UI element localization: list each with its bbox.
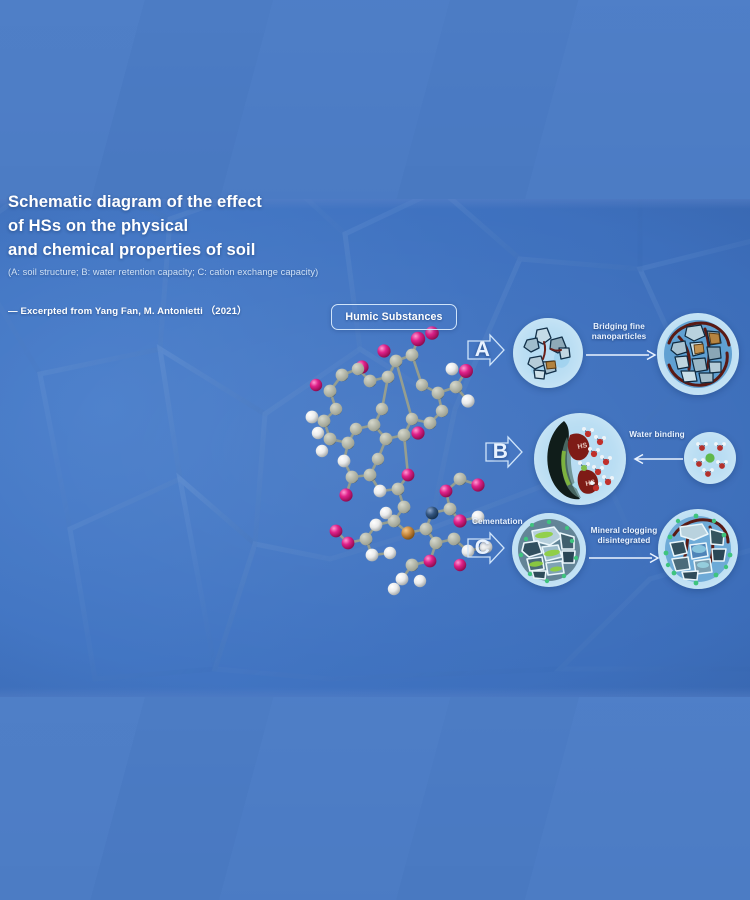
loose-soil-aggregate-icon	[513, 318, 583, 388]
panel-a-start-circle	[513, 318, 583, 388]
cemented-mineral-aggregate-icon	[512, 513, 586, 587]
bottom-letterbox	[0, 697, 750, 900]
panel-b-start-circle: HS HS	[534, 413, 626, 505]
hydrated-ion-cluster-icon	[684, 432, 736, 484]
panel-b-caption-line1: Water binding	[626, 430, 688, 440]
humic-substances-label: Humic Substances	[331, 304, 457, 330]
poster-canvas: Schematic diagram of the effect of HSs o…	[0, 0, 750, 900]
panel-c-process-arrow	[588, 551, 660, 565]
panel-c-process-caption: Mineral clogging disintegrated	[586, 526, 662, 546]
panel-a-caption-line2: nanoparticles	[583, 332, 655, 342]
panel-c-caption-line2: disintegrated	[586, 536, 662, 546]
top-letterbox	[0, 0, 750, 199]
panel-c-end-circle	[658, 509, 738, 589]
attribution-line: — Excerpted from Yang Fan, M. Antonietti…	[8, 306, 338, 318]
text-block: Schematic diagram of the effect of HSs o…	[8, 190, 338, 319]
panel-c-letter: C	[466, 531, 506, 565]
humic-substances-label-text: Humic Substances	[345, 311, 442, 323]
bottom-letterbox-texture	[0, 697, 750, 900]
page-title: Schematic diagram of the effect of HSs o…	[8, 190, 338, 262]
panel-b-letter: B	[484, 435, 524, 469]
panel-a-process-arrow	[585, 348, 657, 362]
panel-a-caption-line1: Bridging fine	[583, 322, 655, 332]
panel-a-letter: A	[466, 333, 506, 367]
panel-c-pre-label: Cementation	[472, 517, 523, 526]
hs-soil-water-cluster-icon: HS HS	[534, 413, 626, 505]
top-letterbox-texture	[0, 0, 750, 199]
panel-a-end-circle	[657, 313, 739, 395]
panel-a-letter-arrow: A	[466, 333, 506, 367]
panel-b-end-circle	[684, 432, 736, 484]
panel-a-process-caption: Bridging fine nanoparticles	[583, 322, 655, 342]
band-bottom-edge	[0, 687, 750, 697]
panel-b-letter-arrow: B	[484, 435, 524, 469]
panel-b-process-arrow	[632, 452, 684, 466]
panel-c-start-circle	[512, 513, 586, 587]
page-subtitle: (A: soil structure; B: water retention c…	[8, 266, 338, 279]
disintegrated-mineral-aggregate-icon	[658, 509, 738, 589]
bridged-soil-aggregate-icon	[657, 313, 739, 395]
panel-c-letter-arrow: C	[466, 531, 506, 565]
panel-b-process-caption: Water binding	[626, 430, 688, 440]
panel-c-caption-line1: Mineral clogging	[586, 526, 662, 536]
